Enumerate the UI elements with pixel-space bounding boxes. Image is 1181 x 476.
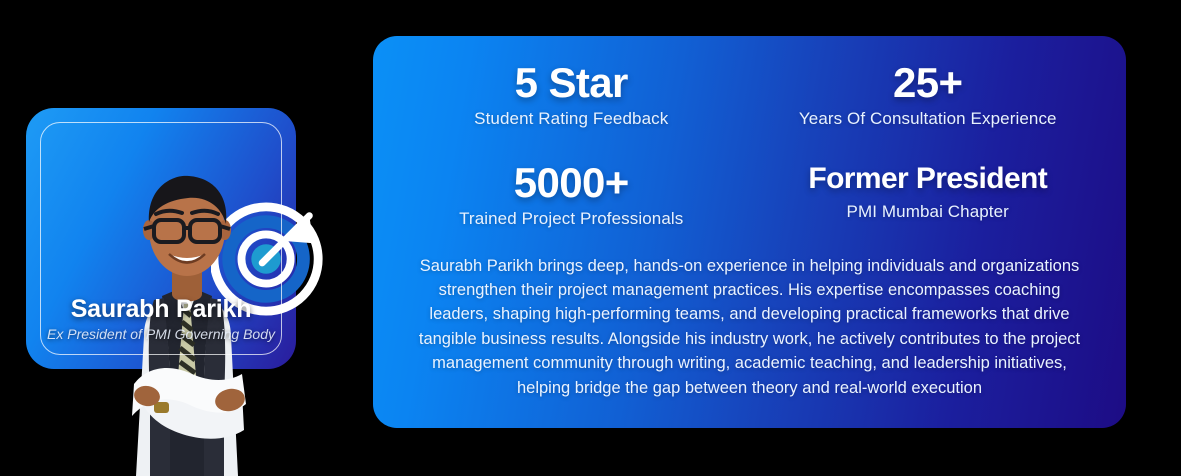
stat-value: 25+ <box>760 60 1097 105</box>
bio-paragraph: Saurabh Parikh brings deep, hands-on exp… <box>407 254 1092 400</box>
profile-stats-banner: Saurabh Parikh Ex President of PMI Gover… <box>0 0 1181 458</box>
stat-label: PMI Mumbai Chapter <box>760 202 1097 222</box>
stats-grid: 5 Star Student Rating Feedback 25+ Years… <box>373 36 1126 234</box>
stat-years-experience: 25+ Years Of Consultation Experience <box>760 60 1097 134</box>
profile-photo-card: Saurabh Parikh Ex President of PMI Gover… <box>26 108 296 369</box>
stat-label: Trained Project Professionals <box>403 209 740 229</box>
stats-card: 5 Star Student Rating Feedback 25+ Years… <box>373 36 1126 428</box>
stat-former-president: Former President PMI Mumbai Chapter <box>760 134 1097 234</box>
stat-label: Years Of Consultation Experience <box>760 109 1097 129</box>
stat-value: 5000+ <box>403 160 740 205</box>
stat-label: Student Rating Feedback <box>403 109 740 129</box>
stat-value: Former President <box>760 160 1097 198</box>
stat-trained-professionals: 5000+ Trained Project Professionals <box>403 134 740 234</box>
stat-value: 5 Star <box>403 60 740 105</box>
stat-student-rating: 5 Star Student Rating Feedback <box>403 60 740 134</box>
avatar <box>92 168 282 476</box>
